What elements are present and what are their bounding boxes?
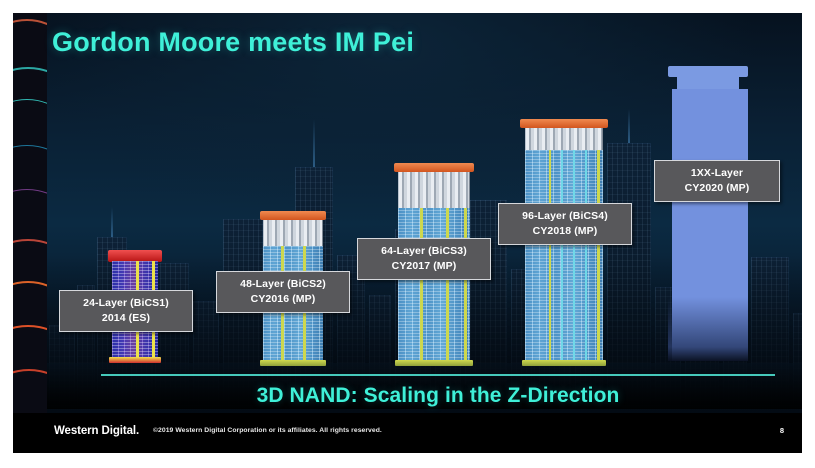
stack-body: [398, 208, 470, 361]
stack-cap: [260, 211, 326, 220]
callout-next-gen[interactable]: 1XX-Layer CY2020 (MP): [654, 160, 780, 202]
callout-bics2[interactable]: 48-Layer (BiCS2) CY2016 (MP): [216, 271, 350, 313]
decorative-swirl-graphic: [13, 13, 47, 453]
callout-line-1: 96-Layer (BiCS4): [503, 209, 627, 224]
stack-base: [109, 357, 161, 363]
page-number: 8: [780, 426, 784, 435]
callout-line-1: 64-Layer (BiCS3): [362, 244, 486, 259]
footer: Western Digital. ©2019 Western Digital C…: [13, 413, 802, 453]
callout-line-2: CY2018 (MP): [503, 224, 627, 239]
nand-stack-next-gen: [668, 66, 748, 361]
callout-line-1: 48-Layer (BiCS2): [221, 277, 345, 292]
slide-subtitle: 3D NAND: Scaling in the Z-Direction: [101, 379, 775, 413]
callout-line-2: 2014 (ES): [64, 311, 188, 326]
page-title: Gordon Moore meets IM Pei: [52, 27, 414, 58]
copyright-notice: ©2019 Western Digital Corporation or its…: [153, 427, 382, 434]
callout-line-1: 24-Layer (BiCS1): [64, 296, 188, 311]
stack-pillars: [525, 128, 603, 150]
stack-base: [260, 360, 326, 366]
stack-body: [525, 150, 603, 361]
slide: 24-Layer (BiCS1) 2014 (ES) 48-Layer (BiC…: [13, 13, 802, 453]
western-digital-logo: Western Digital.: [54, 425, 139, 437]
stack-pillars: [263, 220, 323, 246]
callout-line-2: CY2017 (MP): [362, 259, 486, 274]
stack-base: [522, 360, 606, 366]
divider-top: [101, 374, 775, 376]
stack-cap: [520, 119, 608, 128]
callout-bics1[interactable]: 24-Layer (BiCS1) 2014 (ES): [59, 290, 193, 332]
callout-line-2: CY2016 (MP): [221, 292, 345, 307]
callout-bics3[interactable]: 64-Layer (BiCS3) CY2017 (MP): [357, 238, 491, 280]
callout-bics4[interactable]: 96-Layer (BiCS4) CY2018 (MP): [498, 203, 632, 245]
callout-line-1: 1XX-Layer: [659, 166, 775, 181]
stack-base: [395, 360, 473, 366]
stack-pillars: [398, 172, 470, 208]
silhouette-fade: [668, 297, 748, 361]
stack-cap: [394, 163, 474, 172]
callout-line-2: CY2020 (MP): [659, 181, 775, 196]
